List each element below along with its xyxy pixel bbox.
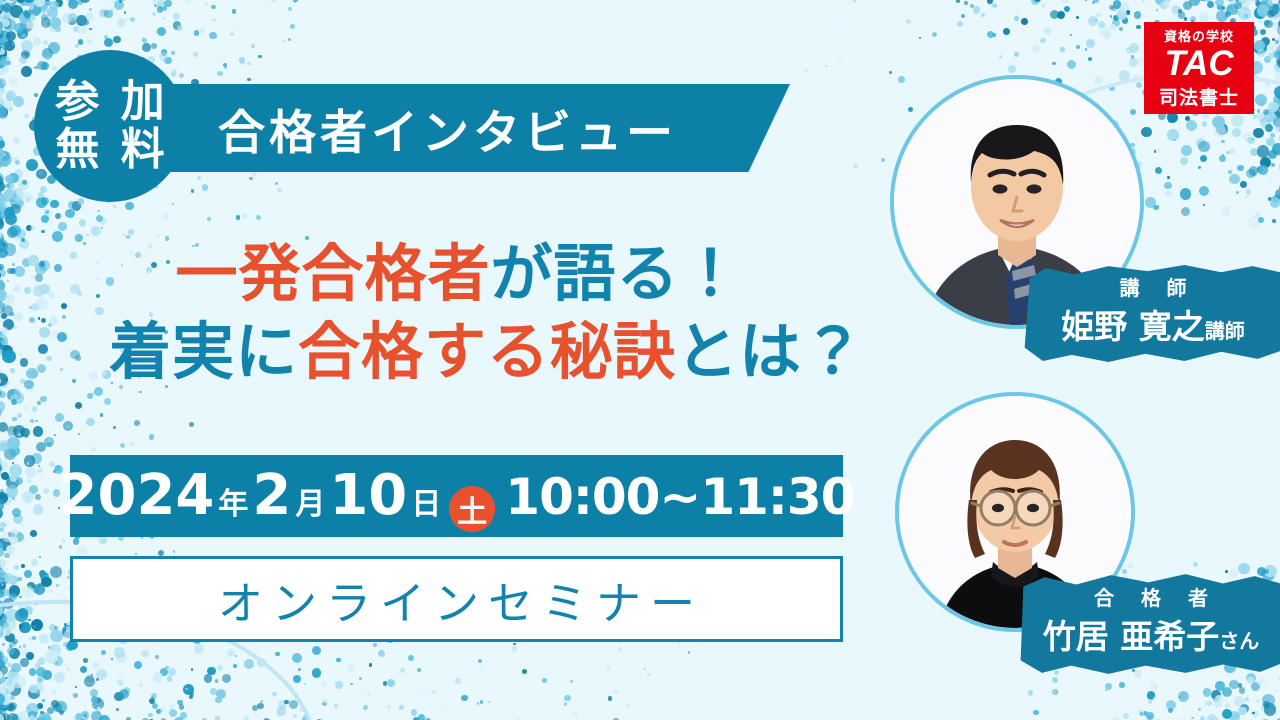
headline-line-2: 着実に合格する秘訣とは？ xyxy=(72,313,902,391)
seminar-format-box: オンラインセミナー xyxy=(70,556,843,642)
badge-line-1: 参 加 xyxy=(52,78,167,126)
weekday-badge: 土 xyxy=(449,486,495,532)
ribbon-label: 合格者インタビュー xyxy=(218,94,677,163)
tac-logo: 資格の学校 TAC 司法書士 xyxy=(1144,22,1254,114)
instructor-name: 姫野 寛之講師 xyxy=(1022,300,1280,348)
date-year: 2024 xyxy=(59,468,215,524)
headline-line-1: 一発合格者が語る！ xyxy=(72,235,902,313)
tac-logo-wordmark: TAC xyxy=(1164,45,1233,82)
headline: 一発合格者が語る！ 着実に合格する秘訣とは？ xyxy=(72,235,902,391)
date-year-unit: 年 xyxy=(214,490,252,520)
date-day: 10 xyxy=(329,468,407,524)
date-day-unit: 日 xyxy=(407,490,445,520)
headline-line-2-suffix: とは？ xyxy=(676,315,865,388)
graduate-name: 竹居 亜希子さん xyxy=(1018,610,1280,658)
graduate-name-text: 竹居 亜希子 xyxy=(1043,617,1220,656)
headline-line-1-emphasis: 一発合格者 xyxy=(175,237,490,310)
instructor-role: 講 師 xyxy=(1022,272,1280,301)
instructor-name-suffix: 講師 xyxy=(1205,319,1245,343)
date-time-text: 2024 年 2 月 10 日 土 10:00~11:30 xyxy=(59,468,855,524)
free-participation-badge: 参 加 無 料 xyxy=(34,50,186,202)
date-month-unit: 月 xyxy=(291,490,329,520)
seminar-format-label: オンラインセミナー xyxy=(209,567,704,632)
graduate-role: 合 格 者 xyxy=(1018,582,1280,611)
graduate-name-plate: 合 格 者 竹居 亜希子さん xyxy=(1018,572,1280,676)
headline-line-1-rest: が語る！ xyxy=(491,237,743,310)
time-range: 10:00~11:30 xyxy=(499,472,854,522)
date-month: 2 xyxy=(252,468,291,524)
headline-line-2-prefix: 着実に xyxy=(109,315,298,388)
instructor-name-text: 姫野 寛之 xyxy=(1061,307,1205,346)
tac-logo-tagline: 資格の学校 xyxy=(1164,26,1234,45)
interview-ribbon: 合格者インタビュー xyxy=(150,84,790,172)
badge-line-2: 無 料 xyxy=(52,126,167,174)
instructor-name-plate: 講 師 姫野 寛之講師 xyxy=(1022,262,1280,364)
graduate-name-suffix: さん xyxy=(1219,629,1259,653)
tac-logo-subject: 司法書士 xyxy=(1159,83,1239,110)
date-time-bar: 2024 年 2 月 10 日 土 10:00~11:30 xyxy=(70,455,843,537)
headline-line-2-emphasis: 合格する秘訣 xyxy=(298,315,676,388)
seminar-banner: 参 加 無 料 合格者インタビュー 一発合格者が語る！ 着実に合格する秘訣とは？… xyxy=(0,0,1280,720)
